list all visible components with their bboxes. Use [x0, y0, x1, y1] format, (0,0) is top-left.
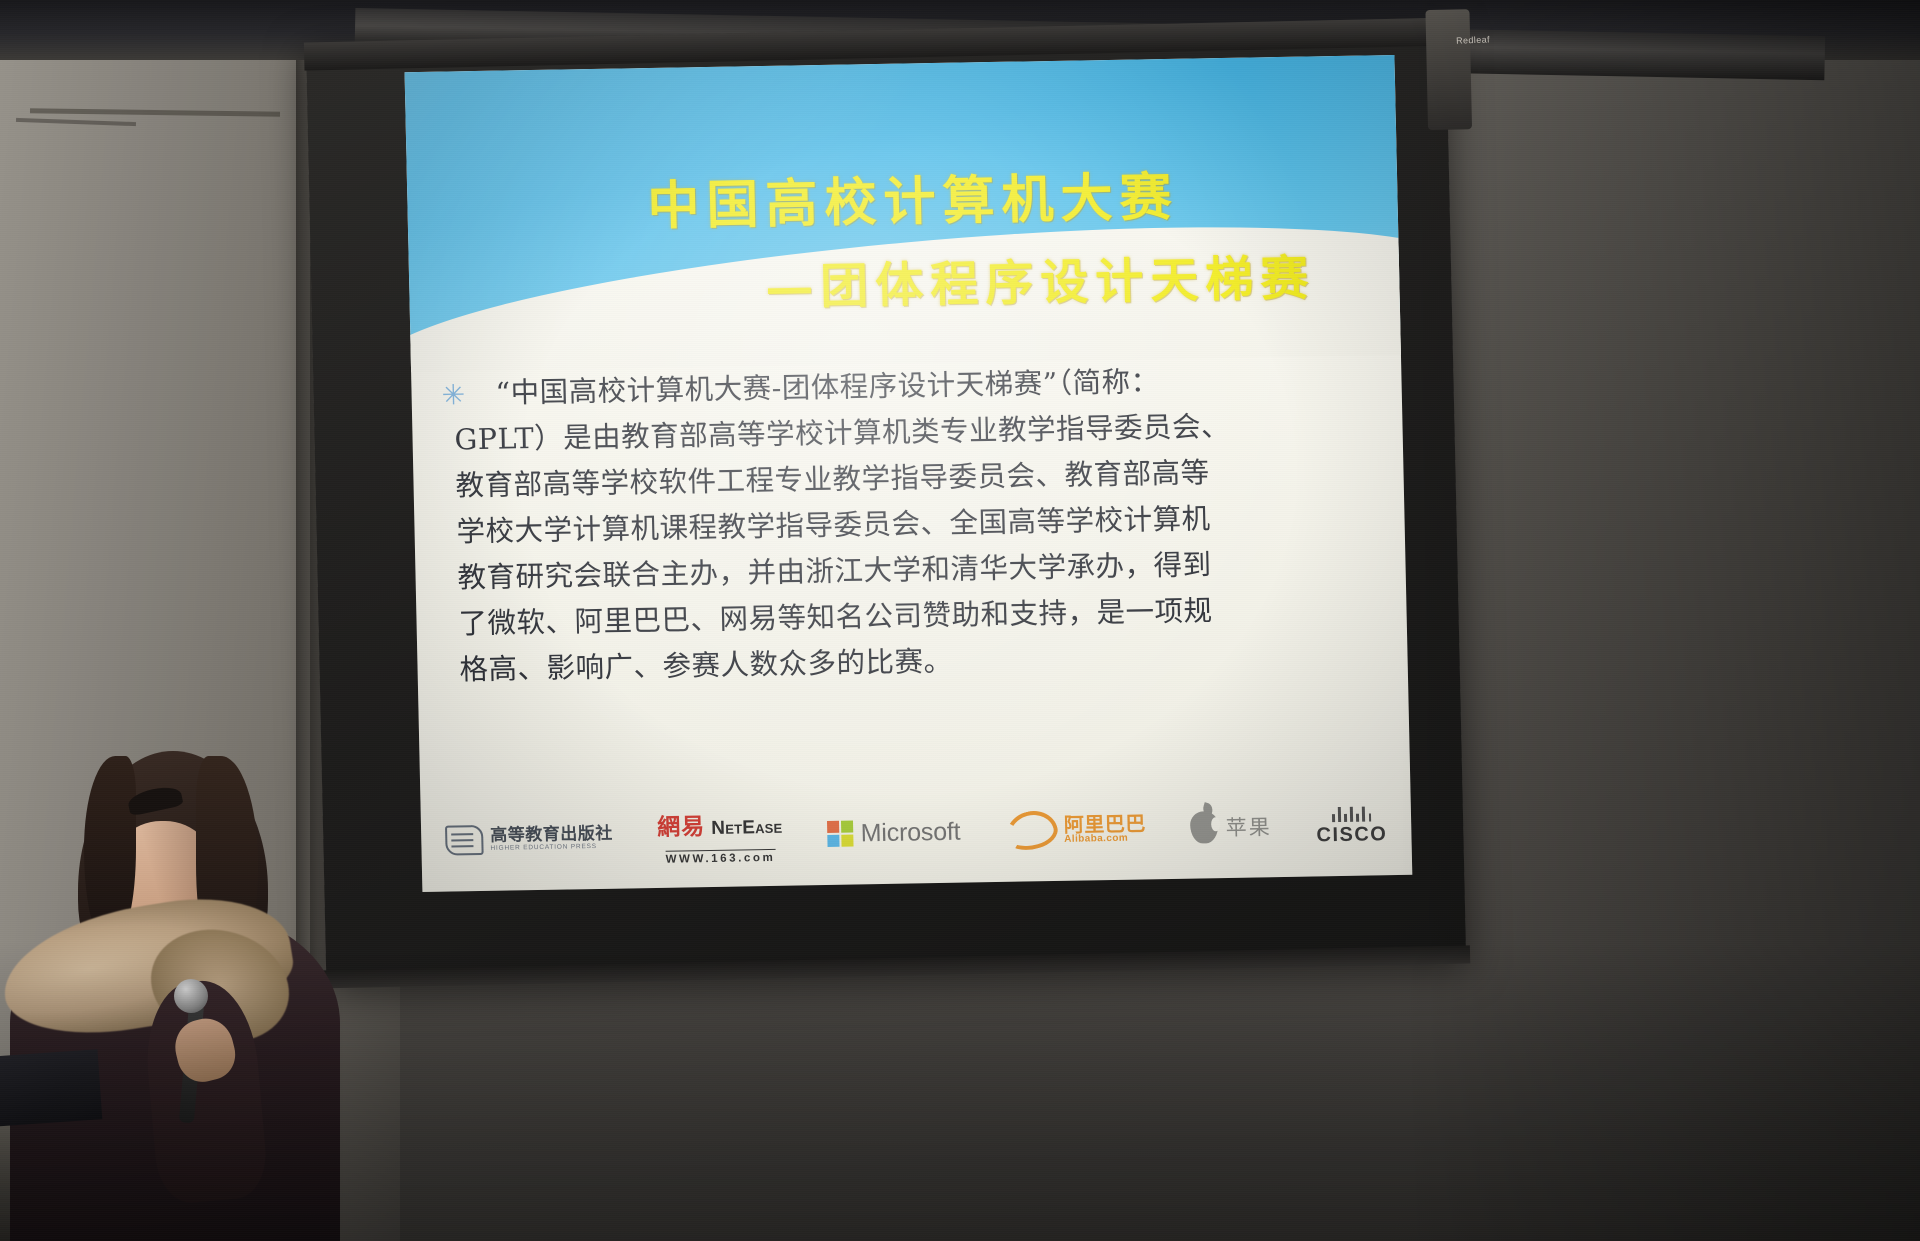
sponsor-logo-microsoft: Microsoft — [827, 817, 961, 848]
bullet-paragraph: ✳ “中国高校计算机大赛-团体程序设计天梯赛”（简称： GPLT）是由教育部高等… — [411, 355, 1408, 694]
alibaba-name-cn: 阿里巴巴 — [1064, 813, 1146, 834]
slide-title: 中国高校计算机大赛 — [647, 155, 1180, 239]
sponsor-logo-hep: 高等教育出版社 HIGHER EDUCATION PRESS — [445, 823, 613, 856]
hep-book-icon — [445, 825, 484, 856]
screen-roller[interactable]: Redleaf — [1425, 9, 1472, 130]
hep-name-en: HIGHER EDUCATION PRESS — [490, 843, 613, 852]
alibaba-smile-icon — [1001, 805, 1061, 855]
slide-body-text: “中国高校计算机大赛-团体程序设计天梯赛”（简称： GPLT）是由教育部高等学校… — [435, 355, 1408, 694]
sponsor-logo-netease: 網易 NetEase WWW.163.com — [657, 806, 783, 866]
netease-url: WWW.163.com — [665, 849, 775, 866]
projection-screen: Redleaf 中国高校计算机大赛 —团体程序设计天梯赛 ✳ “中国高校计算机大… — [306, 18, 1466, 983]
sponsor-logo-alibaba: 阿里巴巴 Alibaba.com — [1005, 809, 1147, 849]
slide-subtitle: —团体程序设计天梯赛 — [764, 238, 1315, 318]
netease-name-cn: 網易 — [657, 807, 706, 842]
slide-header-banner: 中国高校计算机大赛 —团体程序设计天梯赛 — [405, 55, 1401, 372]
apple-icon — [1190, 811, 1219, 843]
lecture-room-scene: Redleaf 中国高校计算机大赛 —团体程序设计天梯赛 ✳ “中国高校计算机大… — [0, 0, 1920, 1241]
roller-brand-label: Redleaf — [1456, 34, 1490, 45]
alibaba-name-en: Alibaba.com — [1064, 833, 1146, 844]
microsoft-wordmark: Microsoft — [860, 817, 960, 848]
presentation-slide: 中国高校计算机大赛 —团体程序设计天梯赛 ✳ “中国高校计算机大赛-团体程序设计… — [405, 55, 1413, 892]
asterisk-bullet-icon: ✳ — [441, 381, 465, 409]
cisco-wordmark: CISCO — [1316, 823, 1387, 847]
sponsor-logo-strip: 高等教育出版社 HIGHER EDUCATION PRESS 網易 NetEas… — [421, 795, 1412, 870]
microsoft-squares-icon — [827, 820, 854, 847]
netease-name-en: NetEase — [711, 817, 783, 840]
apple-name-cn: 苹果 — [1225, 811, 1272, 842]
cisco-bars-icon — [1332, 803, 1372, 822]
sponsor-logo-cisco: CISCO — [1316, 803, 1388, 847]
slide-body: ✳ “中国高校计算机大赛-团体程序设计天梯赛”（简称： GPLT）是由教育部高等… — [411, 355, 1408, 694]
sponsor-logo-apple: 苹果 — [1190, 810, 1272, 843]
floor-shadow — [0, 941, 1920, 1241]
